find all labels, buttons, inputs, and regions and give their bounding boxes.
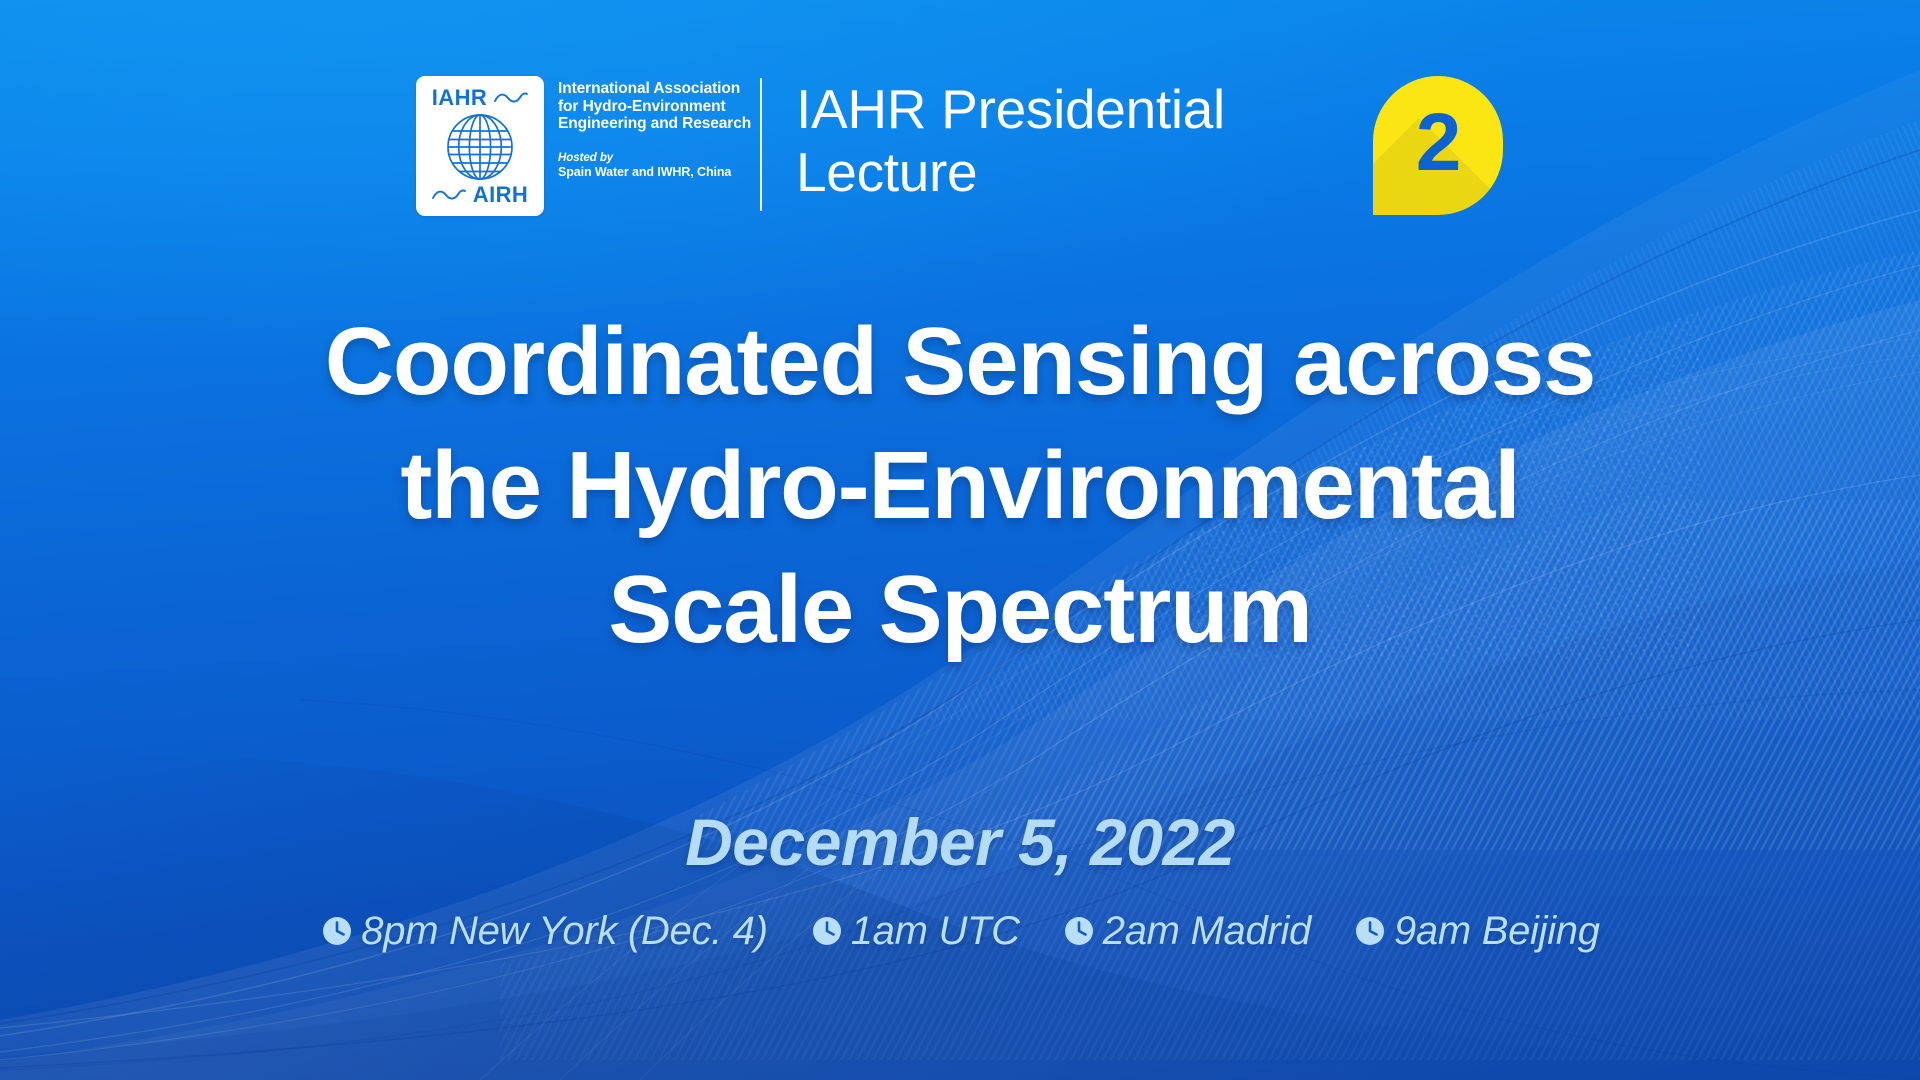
org-line-1: International Association [558, 80, 736, 98]
header: IAHR [416, 76, 1366, 216]
hosted-by-block: Hosted by Spain Water and IWHR, China [558, 152, 736, 181]
iahr-logo: IAHR [416, 76, 544, 216]
clock-icon [1353, 914, 1387, 948]
timezone-label: 1am UTC [851, 908, 1020, 954]
title-line-1: Coordinated Sensing across [0, 300, 1920, 424]
timezone-item-madrid: 2am Madrid [1062, 908, 1311, 954]
clock-icon [810, 914, 844, 948]
lecture-title: IAHR Presidential Lecture [796, 76, 1366, 204]
org-line-3: Engineering and Research [558, 115, 736, 133]
logo-word-iahr: IAHR [432, 87, 487, 109]
clock-icon [320, 914, 354, 948]
episode-badge: 2 [1373, 76, 1503, 215]
event-date: December 5, 2022 [0, 806, 1920, 878]
wave-icon [494, 92, 528, 105]
wave-icon [432, 189, 466, 202]
page-title: Coordinated Sensing across the Hydro-Env… [0, 300, 1920, 672]
title-line-3: Scale Spectrum [0, 548, 1920, 672]
timezone-label: 8pm New York (Dec. 4) [361, 908, 767, 954]
hosted-by-label: Hosted by [558, 152, 736, 166]
hosted-by-value: Spain Water and IWHR, China [558, 165, 736, 180]
timezone-item-beijing: 9am Beijing [1353, 908, 1600, 954]
header-divider [760, 78, 762, 211]
logo-bottom-row: AIRH [416, 184, 544, 206]
organization-name: International Association for Hydro-Envi… [558, 76, 736, 180]
timezone-label: 2am Madrid [1103, 908, 1311, 954]
org-line-2: for Hydro-Environment [558, 98, 736, 116]
timezone-label: 9am Beijing [1394, 908, 1600, 954]
logo-word-airh: AIRH [473, 184, 528, 206]
logo-top-row: IAHR [416, 87, 544, 109]
timezone-item-new-york: 8pm New York (Dec. 4) [320, 908, 767, 954]
badge-number: 2 [1373, 76, 1503, 215]
timezone-item-utc: 1am UTC [810, 908, 1020, 954]
globe-grid-icon [445, 112, 515, 187]
title-line-2: the Hydro-Environmental [0, 424, 1920, 548]
clock-icon [1062, 914, 1096, 948]
poster-stage: IAHR [0, 0, 1920, 1080]
timezone-list: 8pm New York (Dec. 4) 1am UTC 2am Madrid… [0, 908, 1920, 954]
